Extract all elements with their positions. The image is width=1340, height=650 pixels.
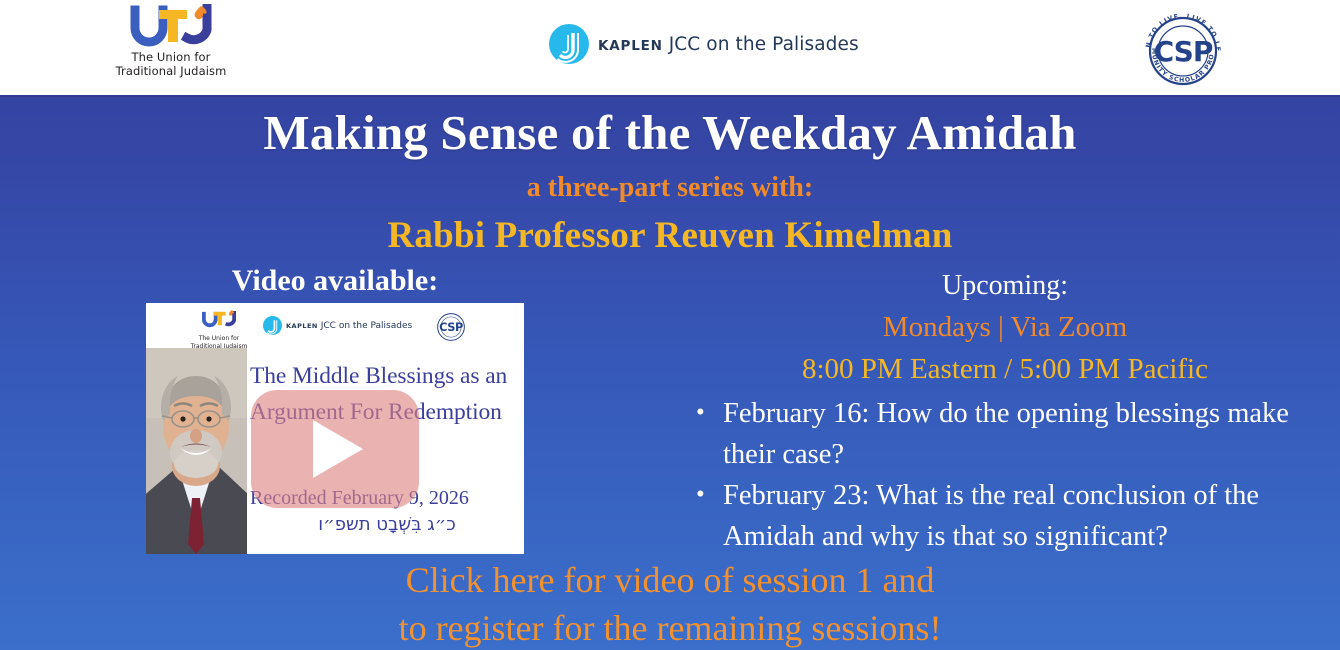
utj-logo: The Union for Traditional Judaism — [96, 4, 246, 78]
utj-logo-line2: Traditional Judaism — [96, 65, 246, 79]
series-subtitle: a three-part series with: — [0, 172, 1340, 204]
utj-logo-line1: The Union for — [96, 51, 246, 65]
video-thumbnail-card[interactable]: The Union for Traditional Judaism KAPLEN… — [146, 303, 524, 554]
list-item: February 16: How do the opening blessing… — [688, 393, 1336, 475]
session-list: February 16: How do the opening blessing… — [688, 393, 1336, 557]
video-card-jcc-text: KAPLEN JCC on the Palisades — [286, 321, 412, 331]
video-card-jcc-palisades: JCC on the Palisades — [321, 321, 412, 331]
utj-flame-logo-icon — [121, 4, 221, 50]
kaplen-jcc-logo-text: KAPLEN JCC on the Palisades — [598, 34, 859, 55]
kaplen-jcc-swirl-icon — [549, 24, 589, 64]
header-logo-band: The Union for Traditional Judaism KAPLEN… — [0, 0, 1340, 97]
session-times-label: 8:00 PM Eastern / 5:00 PM Pacific — [670, 353, 1340, 386]
kaplen-jcc-logo: KAPLEN JCC on the Palisades — [549, 24, 859, 64]
days-platform-label: Mondays | Via Zoom — [670, 311, 1340, 344]
video-card-csp-logo: CSP — [434, 310, 468, 344]
jcc-palisades-wordmark: JCC on the Palisades — [669, 34, 859, 55]
kaplen-wordmark: KAPLEN — [598, 38, 663, 54]
svg-text:CSP: CSP — [1154, 35, 1213, 68]
video-card-utj-logo: The Union for Traditional Judaism — [181, 309, 257, 350]
upcoming-label: Upcoming: — [670, 270, 1340, 302]
register-cta-link[interactable]: Click here for video of session 1 and to… — [0, 556, 1340, 650]
video-card-jcc-swirl-icon — [263, 316, 282, 335]
utj-logo-text: The Union for Traditional Judaism — [96, 51, 246, 78]
svg-text:CSP: CSP — [439, 320, 463, 334]
video-card-logo-row: The Union for Traditional Judaism KAPLEN… — [146, 307, 524, 347]
cta-line1: Click here for video of session 1 and — [0, 556, 1340, 604]
video-card-csp-seal-icon: CSP — [434, 310, 468, 344]
page-title: Making Sense of the Weekday Amidah — [0, 104, 1340, 161]
video-card-utj-line1: The Union for — [181, 335, 257, 342]
video-card-jcc-logo: KAPLEN JCC on the Palisades — [263, 316, 412, 335]
speaker-portrait — [146, 348, 247, 554]
csp-logo: LEARN TO LIVE, LIVE TO LEARN COMMUNITY S… — [1141, 9, 1225, 89]
video-card-hebrew-date: כ״ג בִּשְׁבָט תשפ״ו — [250, 514, 524, 535]
list-item: February 23: What is the real conclusion… — [688, 475, 1336, 557]
speaker-name: Rabbi Professor Reuven Kimelman — [0, 214, 1340, 257]
play-triangle-icon[interactable] — [251, 390, 419, 508]
csp-seal-icon: LEARN TO LIVE, LIVE TO LEARN COMMUNITY S… — [1141, 9, 1225, 89]
video-card-kaplen: KAPLEN — [286, 322, 318, 330]
cta-line2: to register for the remaining sessions! — [0, 604, 1340, 650]
video-available-heading: Video available: — [140, 264, 530, 298]
